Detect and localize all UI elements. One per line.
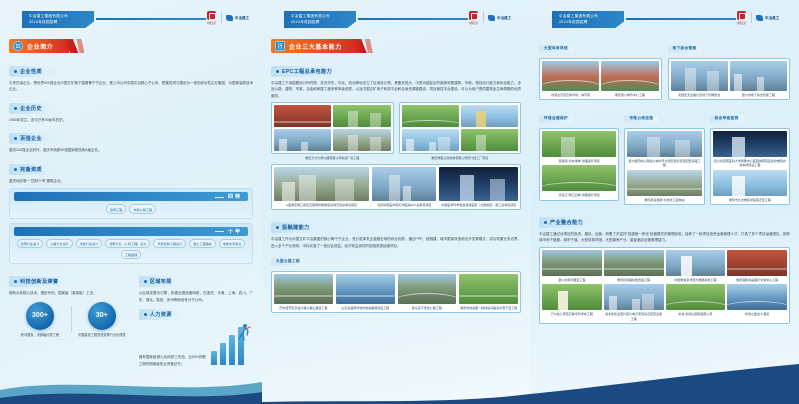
photo-item: 重庆机场路机能改造工程	[604, 250, 664, 283]
photo-muni-guiyang	[627, 131, 701, 157]
photo-apartment-block	[402, 129, 459, 151]
header-rule	[96, 18, 206, 20]
section-title-label: 企业三大基本能力	[289, 42, 342, 51]
photo-caption: 松筠山堡垒大酒店	[727, 312, 787, 317]
photo-wanzhou-college	[542, 284, 602, 310]
photo-item: 渝北新区龙西片区片单元安置房及配套设施工程	[604, 284, 664, 321]
title-swash	[363, 39, 373, 53]
mcc-glyph-icon	[488, 15, 495, 21]
photo-item: 中冶·松筠山国际度假公司	[666, 284, 726, 321]
mcc-glyph-icon	[226, 15, 233, 21]
photo-caption: 清溪江"两江四岸"治理提升项目	[542, 193, 616, 198]
wide-photo-item: A股重庆两江新区互联网智能制造基地迁建总承包项目	[274, 167, 369, 208]
photo-yubei-housing	[604, 284, 664, 310]
sub-head-0: 企业性质	[9, 66, 60, 77]
photo-env-qingxi	[542, 165, 616, 191]
mid-content: 企业三大基本能力 EPC工程总承包能力 中冶建工下设勘察设计研究院，并在华东、华…	[262, 36, 530, 313]
seal-text: 中国五矿	[736, 21, 747, 25]
photo-caption: 中国医学科学院血液病医院（北辰院区）施工总承包项目	[439, 203, 518, 208]
photo-lab-interior	[274, 105, 331, 127]
title-swash	[74, 39, 84, 53]
bar-chart-runner-icon	[209, 323, 253, 367]
footer-wave-middle	[262, 360, 530, 404]
qual-tag[interactable]: 建筑行业（人防工程）设计	[105, 239, 150, 248]
bullet-icon	[276, 226, 279, 229]
invest-photo-card: 巴中经开区高速六路九寨山隧道工程 山东省淄博市城市快速路网建设工程 驻马店不老会…	[271, 271, 521, 314]
photo-group: 重庆万才大学仪器有限公司新建厂房工程	[271, 99, 394, 161]
runner-icon	[237, 323, 251, 341]
sub-head-label: 企业历史	[20, 105, 42, 112]
photo-card: 西湖溪"清水绿岸"治理提升项目 清溪江"两江四岸"治理提升项目	[539, 128, 619, 201]
photo-item: 万州幼儿师范高等专科学校工程	[542, 284, 602, 321]
photo-caption: 贵州贵阳中心南站大城中环交通安置标项目配套道路工程	[627, 159, 701, 168]
photo-yellow-building	[461, 105, 518, 127]
photo-caption: 重庆机场路机能改造工程	[604, 278, 664, 283]
category-block: 大型体育场馆 内蒙古牙克石体育场、体育馆 重庆南川体育中心工程	[539, 36, 662, 100]
photo-card: 贵州贵阳中心南站大城中环交通安置标项目配套道路工程 重庆机运港桥·中冶建工铝电站	[624, 128, 704, 206]
qual-caption-0: 四特	[14, 192, 248, 201]
innovation-text: 拥有众多核心技术、授权专利、国家级（省部级）工法。	[9, 290, 133, 296]
right-categories-mid: 环境治理保护 西湖溪"清水绿岸"治理提升项目 清溪江"两江四岸"治理提升项目 市	[539, 106, 790, 205]
header-tag: 中冶建工集团有限公司 2024年校园招聘	[284, 11, 356, 28]
wide-photo-item: 中国医学科学院血液病医院（北辰院区）施工总承包项目	[439, 167, 518, 208]
stat-value: 30+	[88, 302, 116, 330]
industry-photo-row-1: 银川水网与隧道工程 重庆机场路机能改造工程 中国电信京津冀大数据基地工程	[542, 250, 787, 283]
photo-stadium-nanchuan	[601, 61, 658, 91]
wide-photo-item: 北京协和医学院天津医院EPC总承包项目	[372, 167, 436, 208]
page-header-right: 中冶建工集团有限公司 2024年校园招聘 中国五矿 中冶建工	[530, 0, 799, 36]
section-title-company-profile: 企业简介	[9, 39, 69, 53]
sub-head-region: 区域布局	[139, 276, 182, 287]
sub-head-invest: 投融建能力	[271, 222, 327, 233]
header-campaign: 2024年校园招聘	[291, 20, 347, 25]
section-title-label: 企业简介	[27, 42, 53, 51]
photo-card	[399, 102, 522, 154]
stat-caption: 获评国家、省部级优质工程	[11, 333, 68, 338]
photo-yinchuan-tunnel	[542, 250, 602, 276]
qual-tag[interactable]: 公路行业设计	[46, 239, 73, 248]
bullet-icon	[276, 70, 279, 73]
qual-tag[interactable]: 建筑工程	[106, 204, 126, 213]
left-content: 企业简介 企业性质 中央在渝企业，是世界500强企业中国五矿旗下重要骨干子企业，…	[0, 36, 262, 264]
category-chip-municipal: 市政公用设施	[624, 115, 658, 123]
category-block: 综合甲级医院 四川省西南医科大学附属中心医院城南院区综合楼院内停车场建设工程 重…	[710, 106, 790, 205]
photo-item: 松筠山堡垒大酒店	[727, 284, 787, 321]
photo-caption: 四川省西南医科大学附属中心医院城南院区综合楼院内停车场建设工程	[713, 159, 787, 168]
mcc-logo: 中冶建工	[756, 15, 779, 21]
industry-photo-card: 银川水网与隧道工程 重庆机场路机能改造工程 中国电信京津冀大数据基地工程	[539, 247, 790, 325]
photo-caption: 北碚区天生路片区地下管网整治	[671, 93, 728, 98]
photo-caption: 西湖溪"清水绿岸"治理提升项目	[542, 159, 616, 164]
minmetals-seal-icon: 中国五矿	[206, 11, 217, 25]
sub-head-1: 企业历史	[9, 103, 60, 114]
bullet-icon	[14, 137, 17, 140]
innovation-block: 科技创新及荣誉 拥有众多核心技术、授权专利、国家级（省部级）工法。 300+ 获…	[9, 270, 133, 367]
photo-card	[271, 102, 394, 154]
sub-head-3: 完备资质	[9, 164, 60, 175]
category-chip-hospital: 综合甲级医院	[710, 115, 744, 123]
photo-caption: 银川水网与隧道工程	[542, 278, 602, 283]
photo-caption: 中冶·松筠山国际度假公司	[666, 312, 726, 317]
sub-head-2: 百强企业	[9, 133, 60, 144]
photo-aerial-campus	[461, 129, 518, 151]
photo-hosp-jiulongpo	[713, 170, 787, 196]
qualification-block-sitedd: 四特 建筑工程 市政公用工程	[9, 188, 253, 218]
photo-item: 山东省淄博市城市快速路网建设工程	[336, 274, 395, 311]
photo-item: 重庆机运港桥·中冶建工铝电站	[627, 170, 701, 203]
photo-hospital-tianjin	[372, 167, 436, 201]
bullet-icon	[14, 168, 17, 171]
logo-divider	[221, 12, 222, 23]
qual-tags-1: 建筑行业设计 公路行业设计 市政行业设计 建筑行业（人防工程）设计 风景园林工程…	[14, 239, 248, 260]
photo-express-road	[336, 274, 395, 304]
photo-item: 重庆保税商品展示交易中心工程	[727, 250, 787, 283]
industry-photo-row-2: 万州幼儿师范高等专科学校工程 渝北新区龙西片区片单元安置房及配套设施工程 中冶·…	[542, 284, 787, 321]
photo-group: 重庆博醛之初植物有限公司增汁加工厂项目	[399, 99, 522, 161]
photo-item: 重庆市快速路一横线驻马路溪水西干道工程	[459, 274, 518, 311]
photo-fast-road	[459, 274, 518, 304]
qual-tags-0: 建筑工程 市政公用工程	[14, 204, 248, 213]
brochure-spread: 中冶建工集团有限公司 2024年校园招聘 中国五矿 中冶建工	[0, 0, 799, 404]
sub-head-hr: 人力资源	[139, 309, 182, 320]
photo-airport-road	[604, 250, 664, 276]
category-chip-environment: 环境治理保护	[539, 115, 573, 123]
photo-item: 西湖溪"清水绿岸"治理提升项目	[542, 131, 616, 164]
photo-caption: 重庆市快速路一横线驻马路溪水西干道工程	[459, 306, 518, 311]
epc-wide-photo-card: A股重庆两江新区互联网智能制造基地迁建总承包项目 北京协和医学院天津医院EPC总…	[271, 164, 521, 211]
photo-item: 贵州贵阳中心南站大城中环交通安置标项目配套道路工程	[627, 131, 701, 168]
left-bottom-row: 科技创新及荣誉 拥有众多核心技术、授权专利、国家级（省部级）工法。 300+ 获…	[0, 264, 262, 367]
qual-tag[interactable]: 建筑行业设计	[17, 239, 44, 248]
photo-caption: 重庆保税商品展示交易中心工程	[727, 278, 787, 283]
photo-card: 内蒙古牙克石体育场、体育馆 重庆南川体育中心工程	[539, 58, 662, 101]
photo-group-caption: 重庆万才大学仪器有限公司新建厂房工程	[271, 156, 394, 161]
hr-row: 拥有国家级博士后科研工作站，近50%的职工拥有国家级执业资格证书。	[139, 323, 253, 367]
qualification-block-shijia: 十甲 建筑行业设计 公路行业设计 市政行业设计 建筑行业（人防工程）设计 风景园…	[9, 223, 253, 265]
sub-head-label: 区域布局	[150, 278, 172, 285]
mcc-logo-text: 中冶建工	[765, 15, 779, 20]
header-tag: 中冶建工集团有限公司 2024年校园招聘	[552, 11, 624, 28]
mcc-glyph-icon	[756, 15, 763, 21]
photo-item: 银川水网与隧道工程	[542, 250, 602, 283]
photo-item: 重庆南川体育中心工程	[601, 61, 658, 98]
qual-tag[interactable]: 市政公用工程	[129, 204, 156, 213]
qual-tag[interactable]: 市政行业设计	[76, 239, 103, 248]
sub-head-label: 完备资质	[20, 166, 42, 173]
photo-group-caption: 重庆博醛之初植物有限公司增汁加工厂项目	[399, 156, 522, 161]
photo-plant-facade	[333, 129, 390, 151]
photo-item: 驻马店不老会公路工程	[398, 274, 457, 311]
photo-factory-aerial	[333, 105, 390, 127]
sub-head-label: EPC工程总承包能力	[282, 68, 332, 75]
photo-caption: 渝北新区龙西片区片单元安置房及配套设施工程	[604, 312, 664, 321]
stat-caption: 中国建设工程鲁班奖等行业优质奖	[73, 333, 130, 338]
mcc-logo: 中冶建工	[488, 15, 511, 21]
qual-tag[interactable]: 岩土工程勘察	[189, 239, 216, 248]
header-logos: 中国五矿 中冶建工	[736, 11, 779, 25]
industry-text: 中冶建工通过对项目的投资、建设、运营，积累了丰富的"投建营一体化"经营模式的管理…	[539, 231, 790, 244]
photo-stadium-yakeshi	[542, 61, 599, 91]
bullet-icon	[14, 280, 17, 283]
photo-caption: 北京协和医学院天津医院EPC总承包项目	[372, 203, 436, 208]
header-logos: 中国五矿 中冶建工	[206, 11, 249, 25]
stat-value: 300+	[26, 302, 54, 330]
sub-head-label: 人力资源	[150, 311, 172, 318]
sub-head-label: 百强企业	[20, 135, 42, 142]
photo-item: 北碚区天生路片区地下管网整治	[671, 61, 728, 98]
photo-caption: 重庆机运港桥·中冶建工铝电站	[627, 198, 701, 203]
photo-caption: 内蒙古牙克石体育场、体育馆	[542, 93, 599, 98]
photo-campus-building	[274, 129, 331, 151]
category-chip-stadium: 大型体育场馆	[539, 45, 573, 53]
photo-bonded-center	[727, 250, 787, 276]
header-logos: 中国五矿 中冶建工	[468, 11, 511, 25]
header-campaign: 2024年校园招聘	[29, 20, 85, 25]
bullet-icon	[144, 280, 147, 283]
photo-pipe-yinchuan	[730, 61, 787, 91]
sub-head-label: 投融建能力	[282, 224, 309, 231]
photo-hosp-luzhou	[713, 131, 787, 157]
photo-item: 清溪江"两江四岸"治理提升项目	[542, 165, 616, 198]
photo-item: 四川省西南医科大学附属中心医院城南院区综合楼院内停车场建设工程	[713, 131, 787, 168]
mcc-logo-text: 中冶建工	[497, 15, 511, 20]
logo-divider	[751, 12, 752, 23]
region-hr-block: 区域布局 以区域发展为引擎，构建全国经营网络，在重庆、天津、上海、四川、广东、湖…	[139, 270, 253, 367]
logo-divider	[483, 12, 484, 23]
invest-text: 中冶建工作为中国五矿中冶集团的核心骨干子企业，充分发挥央企金融全球的综合优势，通…	[271, 236, 521, 249]
header-campaign: 2024年校园招聘	[559, 20, 615, 25]
photo-songyun-resort	[666, 284, 726, 310]
photo-item: 内蒙古牙克石体育场、体育馆	[542, 61, 599, 98]
edit-document-icon	[275, 41, 285, 51]
page-header-middle: 中冶建工集团有限公司 2024年校园招聘 中国五矿 中冶建工	[262, 0, 530, 36]
seal-text: 中国五矿	[206, 21, 217, 25]
photo-caption: 万州幼儿师范高等专科学校工程	[542, 312, 602, 317]
footer-wave-right	[530, 360, 799, 404]
photo-caption: 驻马店不老会公路工程	[398, 306, 457, 311]
qual-tag[interactable]: 工程监理	[121, 250, 141, 259]
section-text-0: 中央在渝企业，是世界500强企业中国五矿旗下重要骨干子企业，是上市公司中国中冶核…	[9, 80, 253, 93]
right-content: 大型体育场馆 内蒙古牙克石体育场、体育馆 重庆南川体育中心工程	[530, 36, 799, 324]
industry-block: 产业整合能力 中冶建工通过对项目的投资、建设、运营，积累了丰富的"投建营一体化"…	[539, 211, 790, 324]
bullet-icon	[14, 107, 17, 110]
photo-industrial-base	[274, 167, 369, 201]
qual-caption-1: 十甲	[14, 227, 248, 236]
seal-text: 中国五矿	[468, 21, 479, 25]
photo-caption: 中国电信京津冀大数据基地工程	[666, 278, 726, 283]
stat-item: 300+ 获评国家、省部级优质工程	[11, 302, 68, 338]
photo-caption: A股重庆两江新区互联网智能制造基地迁建总承包项目	[274, 203, 369, 208]
hr-text: 拥有国家级博士后科研工作站，近50%的职工拥有国家级执业资格证书。	[139, 354, 206, 367]
epc-block: EPC工程总承包能力 中冶建工下设勘察设计研究院，并在华东、华北、西北等地设立了…	[271, 60, 521, 210]
photo-pipe-beibei	[671, 61, 728, 91]
category-block: 地下综合管廊 北碚区天生路片区地下管网整治 银川市地下综合管廊工程	[668, 36, 791, 100]
section-text-3: 重庆地区唯一"四特十甲"建筑企业。	[9, 178, 253, 184]
category-chip-pipe-gallery: 地下综合管廊	[668, 45, 702, 53]
left-section-2: 百强企业 重庆100强企业前列，重庆市纳税50强暨纳税信用A级企业。	[9, 127, 253, 153]
header-tag: 中冶建工集团有限公司 2024年校园招聘	[22, 11, 94, 28]
minmetals-seal-icon: 中国五矿	[468, 11, 479, 25]
page-right: 中冶建工集团有限公司 2024年校园招聘 中国五矿 中冶建工 大	[530, 0, 799, 404]
photo-caption: 重庆市九龙坡区中医院迁建工程	[713, 198, 787, 203]
sub-head-epc: EPC工程总承包能力	[271, 66, 350, 77]
photo-songyun-hotel	[727, 284, 787, 310]
page-middle: 中冶建工集团有限公司 2024年校园招聘 中国五矿 中冶建工	[262, 0, 530, 404]
qual-tag[interactable]: 地质灾害防治	[219, 239, 246, 248]
category-block: 环境治理保护 西湖溪"清水绿岸"治理提升项目 清溪江"两江四岸"治理提升项目	[539, 106, 619, 205]
left-section-1: 企业历史 1965年成立，迄今已有50余年历史。	[9, 97, 253, 123]
sub-head-innovation: 科技创新及荣誉	[9, 276, 68, 287]
category-block: 市政公用设施 贵州贵阳中心南站大城中环交通安置标项目配套道路工程 重庆机运港桥·…	[624, 106, 704, 205]
photo-caption: 巴中经开区高速六路九寨山隧道工程	[274, 306, 333, 311]
stat-item: 30+ 中国建设工程鲁班奖等行业优质奖	[73, 302, 130, 338]
photo-item: 重庆市九龙坡区中医院迁建工程	[713, 170, 787, 203]
photo-datacenter	[666, 250, 726, 276]
bullet-icon	[144, 313, 147, 316]
page-header-left: 中冶建工集团有限公司 2024年校园招聘 中国五矿 中冶建工	[0, 0, 262, 36]
sub-head-industry: 产业整合能力	[539, 217, 601, 228]
bullet-icon	[14, 70, 17, 73]
photo-card: 北碚区天生路片区地下管网整治 银川市地下综合管廊工程	[668, 58, 791, 101]
sub-head-label: 科技创新及荣誉	[20, 278, 58, 285]
photo-item: 中国电信京津冀大数据基地工程	[666, 250, 726, 283]
sub-head-label: 企业性质	[20, 68, 42, 75]
epc-text: 中冶建工下设勘察设计研究院，并在华东、华北、西北等地设立了区域设计院，具备完成大…	[271, 80, 521, 99]
right-categories-top: 大型体育场馆 内蒙古牙克石体育场、体育馆 重庆南川体育中心工程	[539, 36, 790, 100]
photo-caption: 银川市地下综合管廊工程	[730, 93, 787, 98]
photo-hospital-beichen	[439, 167, 518, 201]
section-text-2: 重庆100强企业前列，重庆市纳税50强暨纳税信用A级企业。	[9, 147, 253, 153]
invest-block: 投融建能力 中冶建工作为中国五矿中冶集团的核心骨干子企业，充分发挥央企金融全球的…	[271, 216, 521, 313]
photo-caption: 重庆南川体育中心工程	[601, 93, 658, 98]
photo-muni-station	[627, 170, 701, 196]
photo-env-xihu	[542, 131, 616, 157]
photo-item: 银川市地下综合管廊工程	[730, 61, 787, 98]
left-section-0: 企业性质 中央在渝企业，是世界500强企业中国五矿旗下重要骨干子企业，是上市公司…	[9, 60, 253, 93]
sub-head-label: 产业整合能力	[550, 219, 583, 226]
mcc-logo: 中冶建工	[226, 15, 249, 21]
photo-site-plan	[402, 105, 459, 127]
left-section-3: 完备资质 重庆地区唯一"四特十甲"建筑企业。	[9, 158, 253, 184]
section-text-1: 1965年成立，迄今已有50余年历史。	[9, 117, 253, 123]
page-left: 中冶建工集团有限公司 2024年校园招聘 中国五矿 中冶建工	[0, 0, 262, 404]
epc-photo-groups: 重庆万才大学仪器有限公司新建厂房工程 重庆博醛之初植物有限公司增汁加工厂项目	[271, 99, 521, 161]
photo-interchange	[398, 274, 457, 304]
qual-tag[interactable]: 风景园林工程设计	[153, 239, 186, 248]
bullet-icon	[544, 221, 547, 224]
photo-tunnel	[274, 274, 333, 304]
photo-caption: 山东省淄博市城市快速路网建设工程	[336, 306, 395, 311]
region-text: 以区域发展为引擎，构建全国经营网络，在重庆、天津、上海、四川、广东、湖北、陕西、…	[139, 290, 253, 303]
header-rule	[358, 18, 468, 20]
building-icon	[13, 41, 23, 51]
photo-card: 四川省西南医科大学附属中心医院城南院区综合楼院内停车场建设工程 重庆市九龙坡区中…	[710, 128, 790, 206]
minmetals-seal-icon: 中国五矿	[736, 11, 747, 25]
header-rule	[626, 18, 736, 20]
mcc-logo-text: 中冶建工	[235, 15, 249, 20]
category-chip-highway: 大型公路工程	[271, 258, 305, 266]
section-title-three-capabilities: 企业三大基本能力	[271, 39, 358, 53]
photo-item: 巴中经开区高速六路九寨山隧道工程	[274, 274, 333, 311]
innovation-stats: 300+ 获评国家、省部级优质工程 30+ 中国建设工程鲁班奖等行业优质奖	[9, 302, 133, 338]
